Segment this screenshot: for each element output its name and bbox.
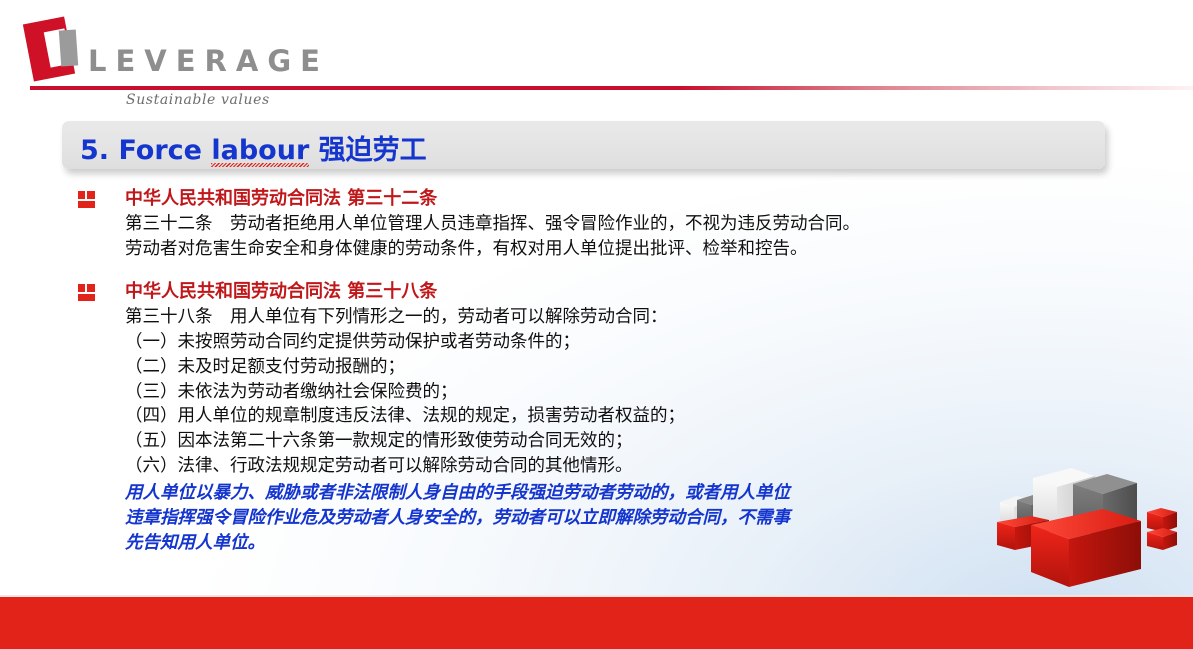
brand-tagline: Sustainable values <box>126 92 270 108</box>
slide-canvas: LEVERAGE Sustainable values 5. Force lab… <box>0 0 1193 649</box>
body-line: （六）法律、行政法规规定劳动者可以解除劳动合同的其他情形。 <box>125 454 1128 479</box>
body-line: 第三十八条 用人单位有下列情形之一的，劳动者可以解除劳动合同： <box>125 305 1128 330</box>
content-section: 中华人民共和国劳动合同法 第三十二条 第三十二条 劳动者拒绝用人单位管理人员违章… <box>78 186 1128 262</box>
emphasis-line: 违章指挥强令冒险作业危及劳动者人身安全的，劳动者可以立即解除劳动合同，不需事 <box>125 506 1128 531</box>
title-chinese: 强迫劳工 <box>309 135 426 166</box>
content-section: 中华人民共和国劳动合同法 第三十八条 第三十八条 用人单位有下列情形之一的，劳动… <box>78 279 1128 556</box>
title-prefix: 5. Force <box>80 135 211 166</box>
body-line: （四）用人单位的规章制度违反法律、法规的规定，损害劳动者权益的； <box>125 404 1128 429</box>
brand-divider-rule <box>30 86 1193 90</box>
footer-bar <box>0 597 1193 649</box>
section-body: 第三十八条 用人单位有下列情形之一的，劳动者可以解除劳动合同： （一）未按照劳动… <box>125 305 1128 479</box>
body-line: 劳动者对危害生命安全和身体健康的劳动条件，有权对用人单位提出批评、检举和控告。 <box>125 237 1128 262</box>
section-emphasis: 用人单位以暴力、威胁或者非法限制人身自由的手段强迫劳动者劳动的，或者用人单位 违… <box>125 481 1128 556</box>
slide-content: 中华人民共和国劳动合同法 第三十二条 第三十二条 劳动者拒绝用人单位管理人员违章… <box>78 186 1128 556</box>
body-line: （二）未及时足额支付劳动报酬的； <box>125 355 1128 380</box>
section-body: 第三十二条 劳动者拒绝用人单位管理人员违章指挥、强令冒险作业的，不视为违反劳动合… <box>125 212 1128 262</box>
cubes-svg <box>995 462 1185 597</box>
body-line: （三）未依法为劳动者缴纳社会保险费的； <box>125 380 1128 405</box>
section-heading: 中华人民共和国劳动合同法 第三十八条 <box>125 279 1128 304</box>
body-line: 第三十二条 劳动者拒绝用人单位管理人员违章指挥、强令冒险作业的，不视为违反劳动合… <box>125 212 1128 237</box>
3d-cubes-graphic <box>995 462 1185 597</box>
emphasis-line: 先告知用人单位。 <box>125 531 1128 556</box>
emphasis-line: 用人单位以暴力、威胁或者非法限制人身自由的手段强迫劳动者劳动的，或者用人单位 <box>125 481 1128 506</box>
brand-name: LEVERAGE <box>88 44 329 78</box>
section-heading: 中华人民共和国劳动合同法 第三十二条 <box>125 186 1128 211</box>
page-title: 5. Force labour 强迫劳工 <box>80 128 427 167</box>
red-quad-square-bullet-icon <box>78 284 95 301</box>
small-red-cube-lower <box>1147 528 1177 550</box>
red-quad-square-bullet-icon <box>78 191 95 208</box>
title-misspelled-word: labour <box>211 135 309 166</box>
body-line: （一）未按照劳动合同约定提供劳动保护或者劳动条件的； <box>125 330 1128 355</box>
brand-header: LEVERAGE Sustainable values <box>0 0 1193 115</box>
body-line: （五）因本法第二十六条第一款规定的情形致使劳动合同无效的； <box>125 429 1128 454</box>
slide-title-bar: 5. Force labour 强迫劳工 <box>62 121 1105 169</box>
